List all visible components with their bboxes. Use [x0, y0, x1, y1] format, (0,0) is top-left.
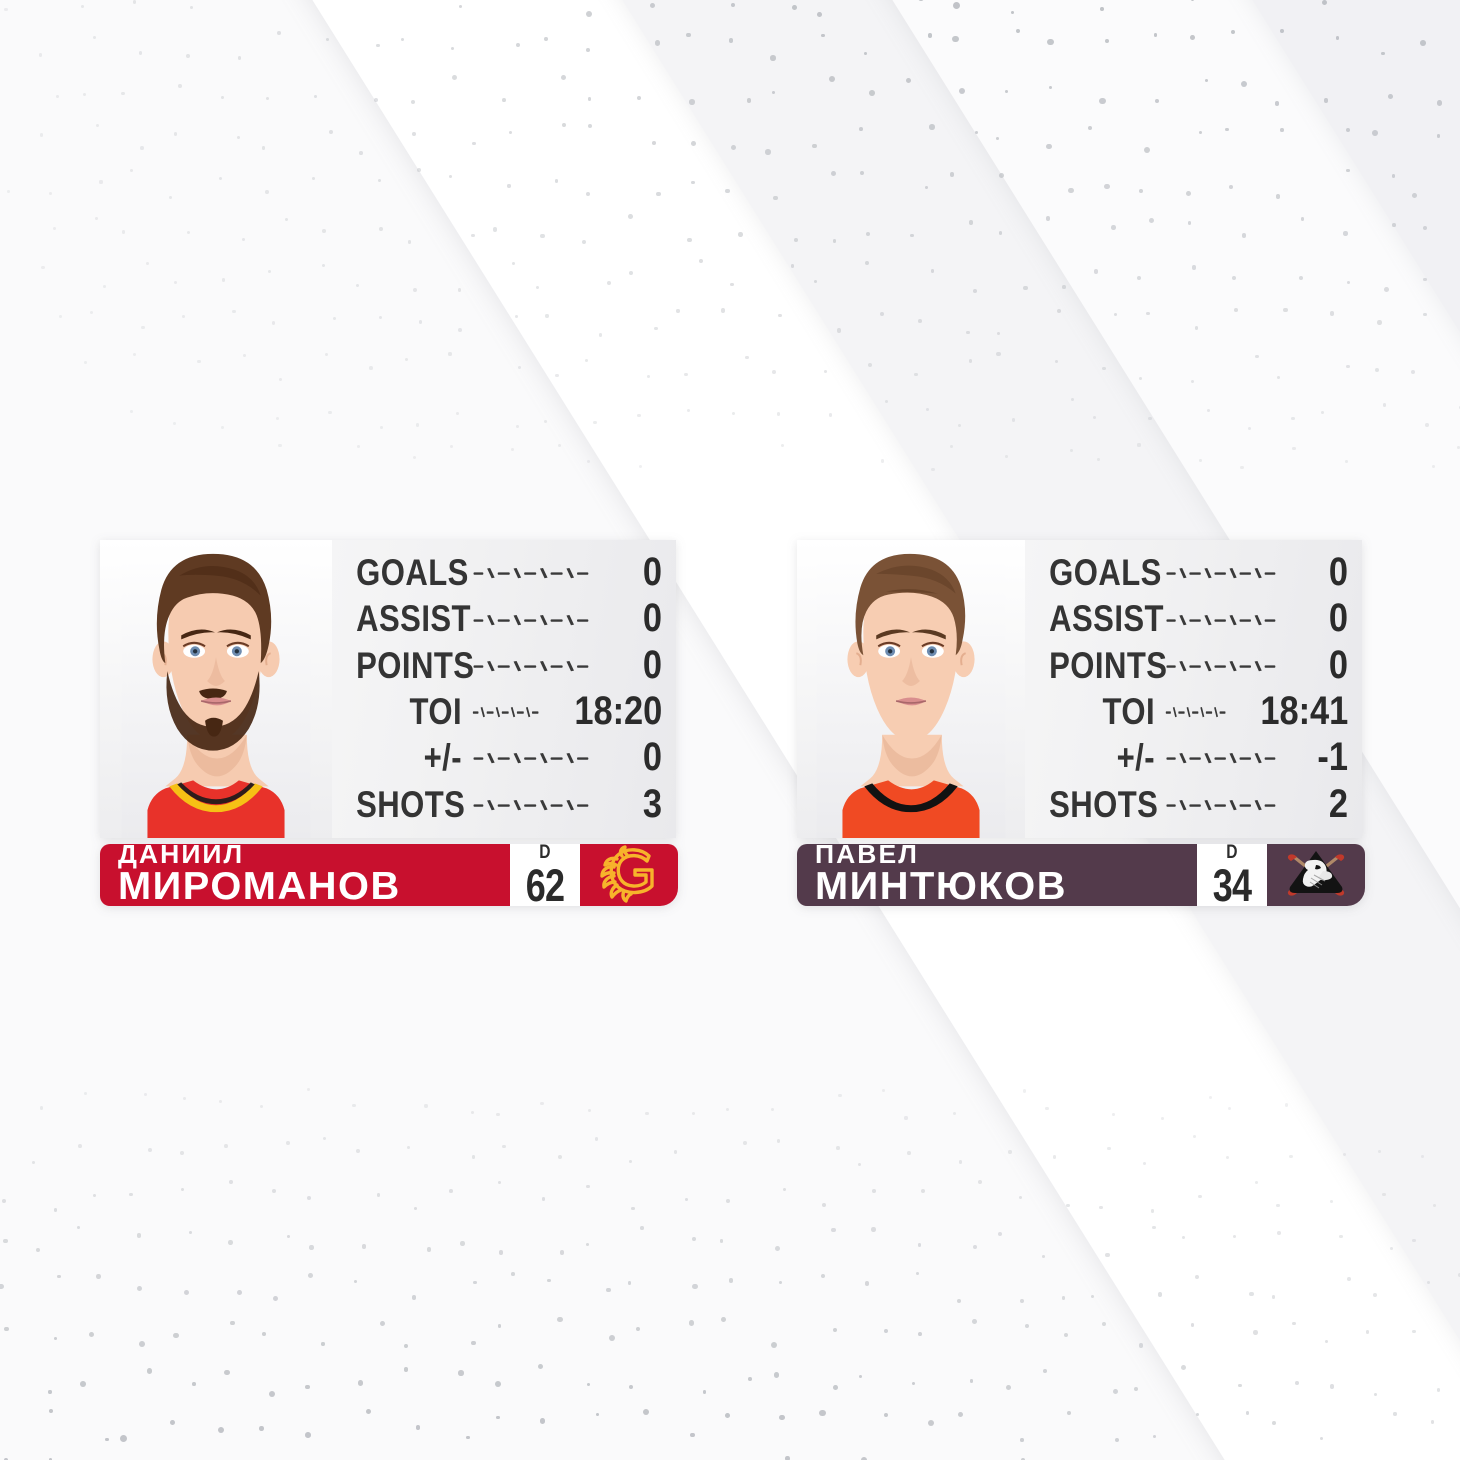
background-dot — [499, 1250, 504, 1255]
background-dot — [628, 214, 633, 219]
background-dot — [562, 123, 566, 127]
background-dot — [643, 1409, 649, 1415]
background-dot — [747, 98, 751, 102]
background-dot — [496, 1416, 499, 1419]
background-dot — [237, 136, 240, 139]
background-dot — [416, 423, 419, 426]
background-dot — [1023, 1089, 1026, 1092]
background-dot — [958, 1412, 963, 1417]
stat-label: SHOTS — [1049, 784, 1155, 826]
jersey-number-panel: D62 — [510, 844, 580, 906]
background-dot — [540, 234, 544, 238]
stat-row: GOALS0 — [336, 550, 662, 596]
background-dot — [502, 1145, 506, 1149]
stat-separator-icon — [1165, 748, 1294, 768]
background-dot — [174, 281, 177, 284]
background-dot — [379, 227, 383, 231]
stat-label: +/- — [1049, 737, 1155, 779]
background-dot — [413, 288, 417, 292]
stat-row: POINTS0 — [336, 643, 662, 689]
background-dot — [358, 1380, 363, 1385]
background-dot — [139, 51, 142, 54]
background-dot — [278, 444, 281, 447]
background-dot — [1242, 233, 1246, 237]
background-dot — [221, 426, 224, 429]
stat-value: 0 — [1310, 550, 1348, 595]
background-dot — [794, 238, 798, 242]
stat-label: ASSIST — [356, 598, 462, 640]
background-dot — [540, 1418, 545, 1423]
background-dot — [376, 44, 380, 48]
background-dot — [1008, 1150, 1011, 1153]
background-dot — [130, 410, 133, 413]
background-dot — [507, 184, 510, 187]
background-dot — [779, 1281, 782, 1284]
player-last-name: МИРОМАНОВ — [118, 867, 518, 908]
background-dot — [518, 366, 522, 370]
stat-row: ASSIST0 — [336, 596, 662, 642]
background-dot — [1253, 1330, 1257, 1334]
background-dot — [1062, 1296, 1065, 1299]
background-dot — [1100, 7, 1104, 11]
background-dot — [586, 11, 592, 17]
background-dot — [326, 38, 329, 41]
stat-label: GOALS — [356, 552, 462, 594]
background-dot — [652, 141, 656, 145]
background-dot — [173, 422, 176, 425]
background-dot — [588, 97, 591, 100]
background-dot — [957, 1299, 961, 1303]
background-dot — [144, 1093, 147, 1096]
ducks-logo-icon[interactable] — [1267, 844, 1365, 906]
background-dot — [1198, 1195, 1201, 1198]
background-dot — [732, 412, 735, 415]
background-dot — [1234, 308, 1238, 312]
background-dot — [262, 146, 266, 150]
stat-row: SHOTS3 — [336, 782, 662, 828]
background-dot — [285, 218, 288, 221]
stat-value: 0 — [624, 643, 662, 688]
background-dot — [1047, 39, 1053, 45]
background-dot — [950, 172, 955, 177]
background-dot — [186, 54, 190, 58]
background-dot — [405, 358, 408, 361]
player-last-name: МИНТЮКОВ — [815, 867, 1205, 908]
background-dot — [953, 2, 960, 9]
background-dot — [587, 1383, 590, 1386]
background-dot — [812, 144, 816, 148]
background-dot — [699, 259, 703, 263]
background-dot — [1347, 1277, 1351, 1281]
background-dot — [730, 283, 733, 286]
background-dot — [192, 1382, 196, 1386]
background-dot — [770, 55, 775, 60]
stat-label: TOI — [356, 691, 462, 733]
background-dot — [412, 1295, 417, 1300]
background-dot — [970, 1379, 973, 1382]
background-dot — [1193, 1135, 1196, 1138]
background-dot — [1195, 1275, 1199, 1279]
background-dot — [864, 52, 867, 55]
background-dot — [731, 145, 736, 150]
background-dot — [1384, 287, 1389, 292]
background-dot — [1346, 365, 1349, 368]
background-dot — [599, 333, 603, 337]
background-dot — [918, 0, 924, 1]
background-dot — [266, 97, 269, 100]
background-dot — [218, 1427, 224, 1433]
background-dot — [286, 1141, 290, 1145]
player-name-panel: ПАВЕЛМИНТЮКОВ — [797, 844, 1197, 906]
background-dot — [774, 1372, 779, 1377]
background-dot — [1289, 1155, 1292, 1158]
background-dot — [1209, 1096, 1212, 1099]
background-dot — [918, 319, 922, 323]
background-dot — [542, 1197, 545, 1200]
background-dot — [650, 3, 655, 8]
background-dot — [4, 8, 7, 11]
background-dot — [1291, 417, 1295, 421]
background-dot — [96, 124, 99, 127]
background-dot — [831, 1228, 836, 1233]
background-dot — [684, 373, 688, 377]
background-dot — [1421, 1155, 1424, 1158]
background-dot — [637, 414, 641, 418]
background-dot — [224, 1370, 230, 1376]
stat-row: +/--1 — [1029, 735, 1348, 781]
background-dot — [260, 1105, 263, 1108]
background-dot — [1346, 128, 1350, 132]
stat-separator-icon — [472, 610, 608, 630]
background-dot — [685, 1198, 688, 1201]
background-dot — [1199, 131, 1202, 134]
card-top-section: GOALS0ASSIST0POINTS0TOI18:41+/--1SHOTS2 — [797, 540, 1362, 838]
background-dot — [146, 262, 149, 265]
background-dot — [1432, 465, 1435, 468]
background-dot — [781, 444, 784, 447]
stats-list: GOALS0ASSIST0POINTS0TOI18:20+/-0SHOTS3 — [332, 540, 676, 838]
background-dot — [1181, 1365, 1186, 1370]
background-dot — [691, 181, 695, 185]
background-dot — [1115, 1438, 1119, 1442]
background-dot — [645, 1112, 648, 1115]
stat-value: 0 — [624, 596, 662, 641]
stat-separator-icon — [1165, 795, 1294, 815]
background-dot — [471, 1111, 474, 1114]
player-card[interactable]: GOALS0ASSIST0POINTS0TOI18:20+/-0SHOTS3ДА… — [100, 540, 676, 906]
background-dot — [427, 1247, 431, 1251]
background-dot — [356, 1149, 360, 1153]
background-dot — [822, 1203, 826, 1207]
background-dot — [1111, 225, 1116, 230]
background-dot — [950, 445, 953, 448]
background-dot — [765, 149, 771, 155]
background-dot — [969, 220, 974, 225]
background-dot — [791, 264, 794, 267]
background-dot — [148, 1148, 152, 1152]
background-dot — [636, 1327, 640, 1331]
background-dot — [544, 37, 548, 41]
background-dot — [1229, 185, 1233, 189]
background-dot — [407, 1146, 410, 1149]
background-dot — [1343, 231, 1347, 235]
background-dot — [838, 1094, 841, 1097]
background-dot — [329, 130, 333, 134]
background-dot — [778, 314, 782, 318]
background-dot — [721, 308, 725, 312]
stat-separator-icon — [1165, 656, 1294, 676]
background-dot — [169, 196, 172, 199]
background-dot — [369, 366, 373, 370]
player-card[interactable]: GOALS0ASSIST0POINTS0TOI18:41+/--1SHOTS2П… — [797, 540, 1362, 906]
background-dot — [93, 1194, 96, 1197]
stat-label: TOI — [1049, 691, 1155, 733]
background-dot — [1146, 312, 1149, 315]
background-dot — [1276, 194, 1281, 199]
background-dot — [1280, 128, 1284, 132]
background-dot — [78, 1144, 82, 1148]
background-dot — [821, 34, 824, 37]
background-dot — [969, 359, 973, 363]
stat-value: 2 — [1310, 782, 1348, 827]
background-dot — [95, 217, 98, 220]
background-dot — [928, 1420, 934, 1426]
background-dot — [692, 1284, 697, 1289]
background-dot — [907, 1151, 911, 1155]
stat-label: POINTS — [1049, 645, 1155, 687]
background-dot — [122, 230, 125, 233]
card-top-section: GOALS0ASSIST0POINTS0TOI18:20+/-0SHOTS3 — [100, 540, 676, 838]
background-dot — [1062, 285, 1066, 289]
background-dot — [452, 75, 457, 80]
background-dot — [1412, 1239, 1416, 1243]
background-dot — [222, 278, 225, 281]
background-dot — [647, 375, 650, 378]
stat-separator-icon — [472, 795, 608, 815]
background-dot — [1292, 1322, 1295, 1325]
background-dot — [560, 1250, 565, 1255]
background-dot — [471, 234, 474, 237]
background-dot — [720, 1239, 724, 1243]
background-dot — [972, 1319, 977, 1324]
background-dot — [606, 1288, 611, 1293]
background-dot — [1188, 221, 1192, 225]
background-dot — [0, 1284, 4, 1289]
flames-logo-icon[interactable] — [580, 844, 678, 906]
background-dot — [866, 232, 870, 236]
background-dot — [40, 1106, 43, 1109]
background-dot — [190, 6, 194, 10]
background-dot — [1134, 1387, 1138, 1391]
background-dot — [777, 1139, 781, 1143]
background-dot — [1226, 1156, 1229, 1159]
background-dot — [184, 1290, 189, 1295]
background-dot — [1153, 1435, 1156, 1438]
background-dot — [1006, 1385, 1011, 1390]
background-dot — [1277, 376, 1280, 379]
background-dot — [914, 373, 918, 377]
background-dot — [1248, 427, 1251, 430]
background-dot — [547, 1279, 551, 1283]
background-dot — [1431, 1420, 1435, 1424]
background-dot — [238, 56, 241, 59]
background-dot — [273, 1296, 278, 1301]
background-dot — [1099, 98, 1105, 104]
stat-row: +/-0 — [336, 735, 662, 781]
background-dot — [495, 1381, 501, 1387]
background-dot — [1137, 276, 1141, 280]
background-dot — [121, 92, 124, 95]
player-number: 62 — [526, 863, 564, 908]
stat-separator-icon — [1165, 702, 1236, 722]
background-dot — [953, 1112, 956, 1115]
background-dot — [448, 352, 451, 355]
background-dot — [413, 456, 416, 459]
background-dot — [269, 1391, 275, 1397]
jersey-number-panel: D34 — [1197, 844, 1267, 906]
background-dot — [629, 271, 633, 275]
background-dot — [536, 286, 539, 289]
background-dot — [540, 1102, 543, 1105]
background-dot — [129, 1193, 133, 1197]
background-dot — [1148, 417, 1152, 421]
background-dot — [779, 1415, 785, 1421]
background-dot — [357, 445, 360, 448]
player-first-name: ПАВЕЛ — [815, 841, 1205, 867]
background-dot — [419, 320, 423, 324]
background-dot — [1071, 398, 1075, 402]
background-dot — [999, 231, 1003, 235]
background-dot — [1093, 416, 1096, 419]
background-dot — [836, 1146, 840, 1150]
background-dot — [180, 1151, 184, 1155]
player-number: 34 — [1213, 863, 1251, 908]
background-dot — [607, 281, 611, 285]
background-dot — [450, 445, 453, 448]
background-dot — [959, 1160, 962, 1163]
background-dot — [89, 1332, 94, 1337]
background-dot — [1411, 370, 1415, 374]
background-dot — [1139, 377, 1142, 380]
background-dot — [380, 426, 383, 429]
background-dot — [725, 1413, 730, 1418]
background-dot — [1025, 1324, 1029, 1328]
background-dot — [57, 1275, 61, 1279]
background-dot — [1299, 276, 1303, 280]
background-dot — [170, 1420, 175, 1425]
background-dot — [49, 1409, 53, 1413]
background-dot — [1055, 360, 1058, 363]
background-dot — [997, 332, 1000, 335]
background-dot — [197, 360, 200, 363]
background-dot — [230, 1321, 235, 1326]
background-dot — [1374, 1393, 1377, 1396]
background-dot — [1046, 144, 1052, 150]
background-dot — [1241, 81, 1247, 87]
background-dot — [1378, 1150, 1381, 1153]
background-dot — [880, 312, 884, 316]
background-dot — [929, 124, 934, 129]
background-dot — [380, 1321, 385, 1326]
background-dot — [173, 1333, 179, 1339]
background-dot — [629, 1160, 632, 1163]
background-dot — [1067, 1411, 1071, 1415]
background-dot — [147, 1368, 153, 1374]
background-dot — [354, 1280, 357, 1283]
background-dot — [1053, 1155, 1056, 1158]
background-dot — [328, 411, 331, 414]
background-dot — [90, 311, 93, 314]
background-dot — [1043, 1369, 1047, 1373]
background-dot — [512, 262, 515, 265]
background-dot — [120, 1435, 127, 1442]
stat-separator-icon — [472, 656, 608, 676]
background-dot — [1155, 99, 1159, 103]
background-dot — [1186, 191, 1191, 196]
background-dot — [631, 1207, 634, 1210]
background-dot — [1149, 218, 1154, 223]
name-bar: ДАНИИЛМИРОМАНОВD62 — [100, 844, 676, 906]
background-dot — [229, 1180, 233, 1184]
background-dot — [555, 374, 559, 378]
background-dot — [1433, 1204, 1436, 1207]
background-dot — [1114, 313, 1118, 317]
background-dot — [130, 169, 133, 172]
background-dot — [1005, 455, 1008, 458]
background-dot — [228, 1240, 233, 1245]
background-dot — [748, 1377, 752, 1381]
background-dot — [1339, 1235, 1343, 1239]
background-dot — [817, 12, 822, 17]
background-dot — [881, 459, 884, 462]
background-dot — [516, 425, 519, 428]
background-dot — [872, 1189, 876, 1193]
background-dot — [54, 1208, 58, 1212]
background-dot — [1105, 39, 1109, 43]
background-dot — [676, 309, 679, 312]
background-dot — [41, 266, 44, 269]
background-dot — [726, 1108, 730, 1112]
background-dot — [721, 1317, 726, 1322]
background-dot — [1016, 29, 1020, 33]
background-dot — [703, 1390, 706, 1393]
background-dot — [1343, 1153, 1346, 1156]
background-dot — [725, 189, 730, 194]
background-dot — [885, 400, 888, 403]
background-dot — [588, 1109, 591, 1112]
background-dot — [1158, 1292, 1162, 1296]
background-dot — [1112, 1113, 1115, 1116]
background-dot — [691, 141, 696, 146]
stat-separator-icon — [472, 563, 608, 583]
background-dot — [966, 331, 970, 335]
background-dot — [378, 179, 381, 182]
background-dot — [1425, 423, 1429, 427]
background-dot — [1423, 313, 1426, 316]
background-dot — [416, 1425, 421, 1430]
background-dot — [833, 239, 837, 243]
background-dot — [833, 1328, 837, 1332]
background-dot — [417, 168, 421, 172]
background-dot — [586, 1243, 589, 1246]
stat-value: 0 — [1310, 596, 1348, 641]
background-dot — [884, 1329, 888, 1333]
background-dot — [586, 48, 590, 52]
background-dot — [692, 1112, 695, 1115]
background-dot — [1088, 126, 1092, 130]
background-dot — [1152, 1226, 1156, 1230]
background-dot — [237, 1290, 242, 1295]
